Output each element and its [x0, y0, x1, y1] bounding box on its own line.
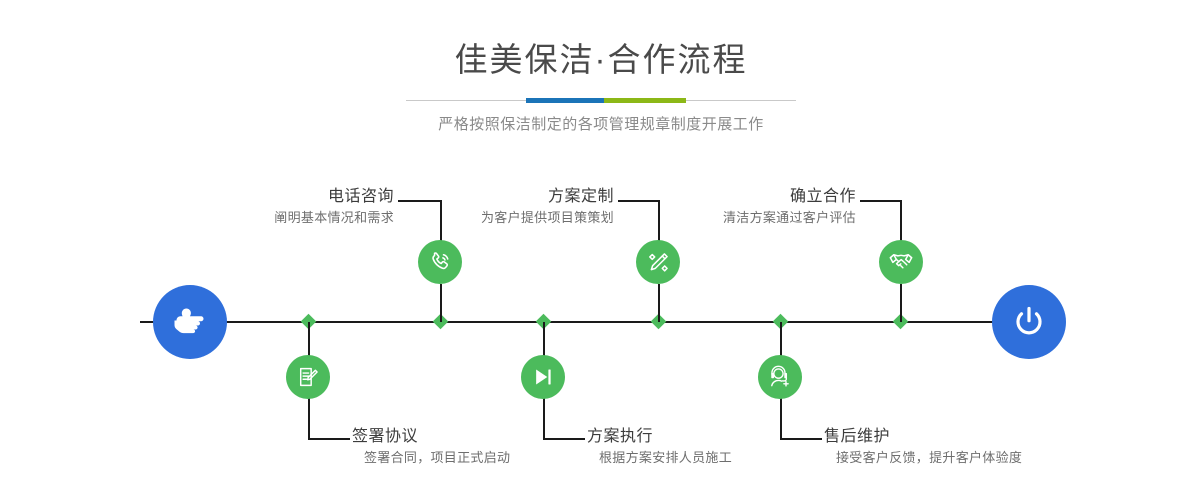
connector-horizontal-step-3 — [618, 200, 660, 202]
process-flow-infographic: 佳美保洁·合作流程 严格按照保洁制定的各项管理规章制度开展工作 — [0, 0, 1202, 502]
connector-vertical-step-3 — [658, 284, 660, 322]
connector-horizontal-step-2 — [308, 438, 350, 440]
step-node-step-5[interactable] — [879, 240, 923, 284]
step-label-step-4: 方案执行 根据方案安排人员施工 — [587, 426, 732, 468]
connector-vertical-step-6b — [780, 396, 782, 440]
handshake-icon — [888, 249, 914, 275]
connector-vertical-step-1 — [440, 284, 442, 322]
step-title: 电话咨询 — [246, 186, 394, 208]
connector-vertical-step-2 — [308, 322, 310, 358]
connector-vertical-step-4b — [543, 396, 545, 440]
connector-vertical-step-5 — [900, 284, 902, 322]
header: 佳美保洁·合作流程 严格按照保洁制定的各项管理规章制度开展工作 — [0, 0, 1202, 136]
step-title: 售后维护 — [824, 426, 1022, 448]
pointing-hand-icon — [170, 302, 210, 342]
connector-horizontal-step-1 — [398, 200, 442, 202]
step-node-step-6[interactable] — [758, 355, 802, 399]
step-title: 签署协议 — [352, 426, 510, 448]
step-label-step-5: 确立合作 清洁方案通过客户评估 — [694, 186, 856, 228]
divider-segment-green — [604, 98, 686, 103]
connector-horizontal-step-6 — [780, 438, 822, 440]
step-desc: 清洁方案通过客户评估 — [694, 208, 856, 228]
step-title: 方案定制 — [452, 186, 614, 208]
step-desc: 阐明基本情况和需求 — [246, 208, 394, 228]
step-desc: 为客户提供项目策策划 — [452, 208, 614, 228]
divider-segment-blue — [526, 98, 604, 103]
connector-horizontal-step-4 — [543, 438, 585, 440]
headset-support-icon — [768, 365, 792, 389]
step-desc: 根据方案安排人员施工 — [587, 448, 732, 468]
page-title: 佳美保洁·合作流程 — [0, 38, 1202, 82]
step-label-step-6: 售后维护 接受客户反馈，提升客户体验度 — [824, 426, 1022, 468]
step-label-step-3: 方案定制 为客户提供项目策策划 — [452, 186, 614, 228]
step-node-step-2[interactable] — [286, 355, 330, 399]
document-pencil-icon — [296, 365, 320, 389]
timeline-start-node[interactable] — [153, 285, 227, 359]
connector-vertical-step-4 — [543, 322, 545, 358]
step-desc: 接受客户反馈，提升客户体验度 — [824, 448, 1022, 468]
page-subtitle: 严格按照保洁制定的各项管理规章制度开展工作 — [0, 114, 1202, 136]
timeline-spine — [140, 321, 1060, 323]
step-label-step-2: 签署协议 签署合同，项目正式启动 — [352, 426, 510, 468]
phone-ring-icon — [427, 249, 453, 275]
title-divider — [406, 96, 796, 106]
connector-vertical-step-6 — [780, 322, 782, 358]
step-node-step-3[interactable] — [636, 240, 680, 284]
step-desc: 签署合同，项目正式启动 — [352, 448, 510, 468]
timeline-end-node[interactable] — [992, 285, 1066, 359]
step-label-step-1: 电话咨询 阐明基本情况和需求 — [246, 186, 394, 228]
step-title: 方案执行 — [587, 426, 732, 448]
power-icon — [1009, 302, 1049, 342]
step-title: 确立合作 — [694, 186, 856, 208]
connector-vertical-step-2b — [308, 396, 310, 440]
pencil-ribbon-icon — [646, 250, 671, 275]
step-node-step-1[interactable] — [418, 240, 462, 284]
play-forward-icon — [531, 365, 555, 389]
connector-horizontal-step-5 — [860, 200, 902, 202]
step-node-step-4[interactable] — [521, 355, 565, 399]
